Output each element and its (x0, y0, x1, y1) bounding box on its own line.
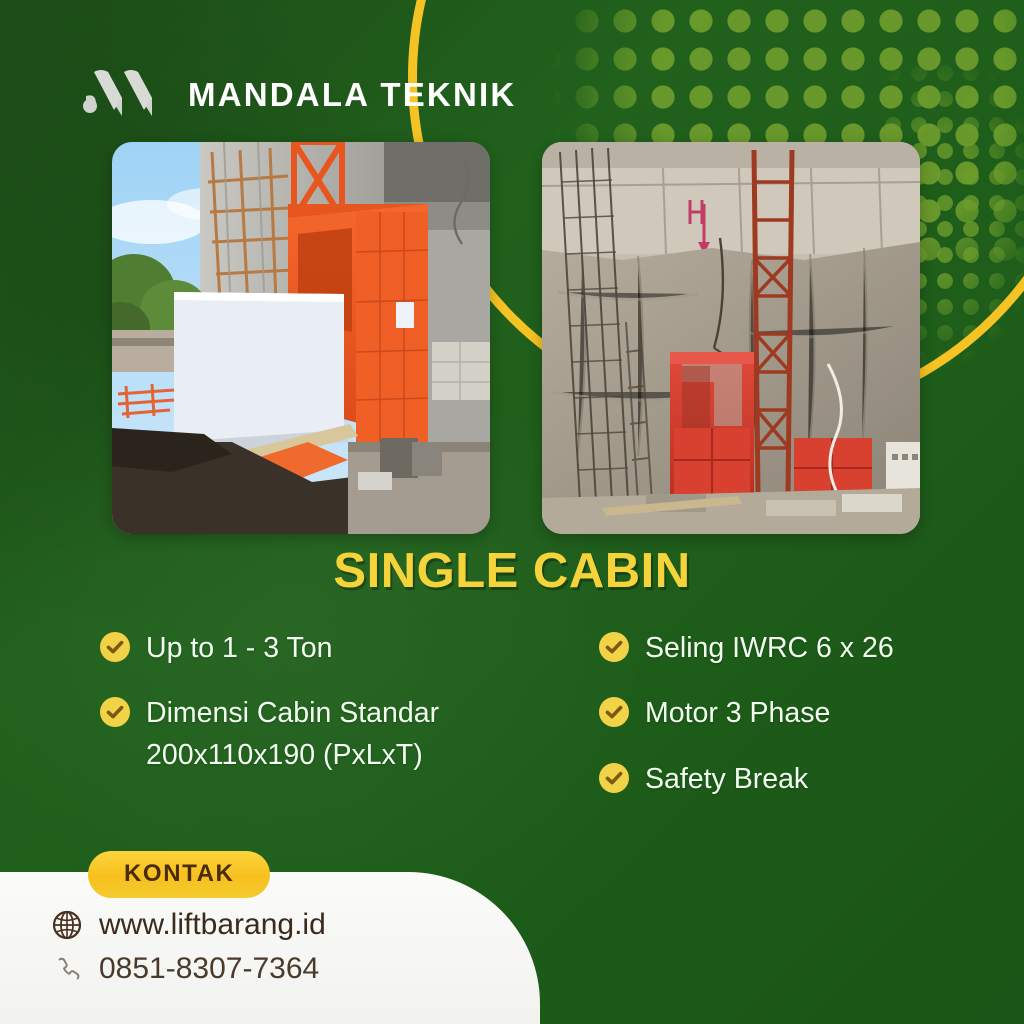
feature-label: Motor 3 Phase (645, 693, 830, 734)
check-circle-icon (599, 763, 629, 793)
photo-hoist-red-cabin[interactable] (542, 142, 920, 534)
feature-label: Seling IWRC 6 x 26 (645, 628, 894, 669)
page-title: SINGLE CABIN (0, 543, 1024, 599)
photo-hoist-orange-cabin[interactable] (112, 142, 490, 534)
check-circle-icon (599, 697, 629, 727)
feature-item: Safety Break (599, 759, 980, 800)
brand-header: MANDALA TEKNIK (78, 66, 516, 122)
contact-list: www.liftbarang.id 0851-8307-7364 (52, 910, 326, 984)
feature-label: Up to 1 - 3 Ton (146, 628, 332, 669)
feature-item: Dimensi Cabin Standar 200x110x190 (PxLxT… (100, 693, 481, 776)
feature-item: Up to 1 - 3 Ton (100, 628, 481, 669)
feature-label: Safety Break (645, 759, 808, 800)
poster-canvas: MANDALA TEKNIK (0, 0, 1024, 1024)
globe-icon (52, 910, 82, 940)
phone-icon (52, 954, 82, 984)
feature-column-left: Up to 1 - 3 Ton Dimensi Cabin Standar 20… (100, 628, 481, 800)
feature-list: Up to 1 - 3 Ton Dimensi Cabin Standar 20… (100, 628, 980, 800)
photo-gallery (112, 142, 920, 534)
feature-item: Motor 3 Phase (599, 693, 980, 734)
website-label: www.liftbarang.id (99, 910, 326, 940)
feature-label: Dimensi Cabin Standar 200x110x190 (PxLxT… (146, 693, 481, 776)
feature-column-right: Seling IWRC 6 x 26 Motor 3 Phase Safety … (523, 628, 980, 800)
contact-website[interactable]: www.liftbarang.id (52, 910, 326, 940)
feature-item: Seling IWRC 6 x 26 (599, 628, 980, 669)
mandala-m-logo-icon (78, 66, 166, 122)
check-circle-icon (100, 697, 130, 727)
brand-name: MANDALA TEKNIK (188, 78, 516, 111)
check-circle-icon (599, 632, 629, 662)
check-circle-icon (100, 632, 130, 662)
kontak-badge: KONTAK (88, 851, 270, 898)
contact-phone[interactable]: 0851-8307-7364 (52, 954, 326, 984)
phone-label: 0851-8307-7364 (99, 954, 319, 984)
